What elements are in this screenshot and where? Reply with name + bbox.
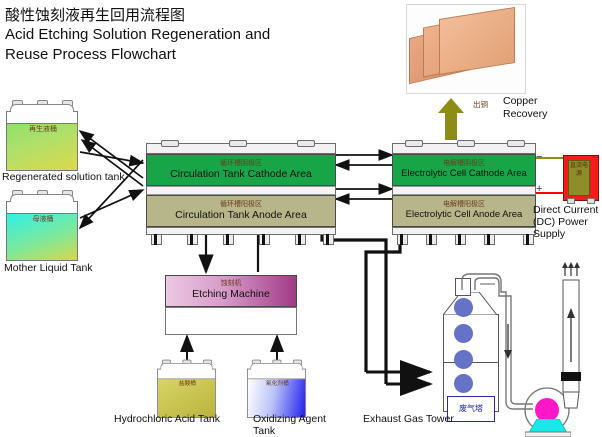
tower-duct (425, 262, 595, 427)
psu-label-cn: 直流电源 (569, 163, 589, 178)
copper-output-label-cn: 出铜 (473, 99, 488, 110)
hcl-tank-label-cn: 盐酸桶 (158, 379, 217, 387)
electrolytic-cell-cathode-area[interactable]: 电解槽阴极区 Electrolytic Cell Cathode Area (392, 154, 536, 186)
oxidizing-tank-label-cn: 氧化剂桶 (248, 379, 307, 387)
exhaust-inlet-arrows (366, 372, 430, 384)
psu-caption-line3: Supply (533, 229, 565, 241)
etching-machine-chamber (165, 307, 297, 335)
etching-machine-label-cn: 蚀刻机 (166, 278, 296, 288)
regenerated-tank-caption: Regenerated solution tank (2, 172, 125, 184)
electrolytic-cathode-label-cn: 电解槽阴极区 (393, 158, 535, 168)
electrolytic-anode-label-en: Electrolytic Cell Anode Area (393, 209, 535, 220)
copper-output-arrow (437, 98, 465, 140)
oxidizing-agent-tank-caption: Oxidizing Agent Tank (253, 414, 326, 437)
oxidizing-agent-tank[interactable]: 氧化剂桶 (247, 358, 306, 418)
exhaust-gas-tower[interactable]: 废气塔 (425, 262, 595, 427)
negative-terminal-sign: − (536, 151, 542, 163)
mother-liquid-tank-caption: Mother Liquid Tank (4, 263, 93, 275)
circulation-cathode-label-en: Circulation Tank Cathode Area (147, 168, 335, 180)
electrolytic-anode-label-cn: 电解槽阳极区 (393, 199, 535, 209)
psu-caption-line1: Direct Current (533, 205, 598, 217)
positive-terminal-sign: + (536, 183, 542, 195)
etching-machine[interactable]: 蚀刻机 Etching Machine (165, 275, 297, 307)
circulation-tank-anode-area[interactable]: 循环槽阳极区 Circulation Tank Anode Area (146, 195, 336, 227)
etching-machine-label-en: Etching Machine (166, 288, 296, 300)
hydrochloric-acid-tank[interactable]: 盐酸桶 (157, 358, 216, 418)
psu-caption-line2: (DC) Power (533, 217, 588, 229)
circulation-cathode-label-cn: 循环槽阴极区 (147, 158, 335, 168)
mother-tank-label-cn: 母液桶 (7, 214, 79, 224)
copper-recovery-caption-line2: Recovery (503, 109, 547, 121)
cell-exchange-arrows (336, 155, 392, 199)
copper-plates-photo (406, 4, 526, 94)
circulation-anode-label-cn: 循环槽阳极区 (147, 199, 335, 209)
hydrochloric-acid-tank-caption: Hydrochloric Acid Tank (114, 414, 220, 426)
dc-power-supply[interactable]: 直流电源 (563, 155, 599, 201)
electrolytic-cell[interactable]: 电解槽阴极区 Electrolytic Cell Cathode Area 电解… (392, 143, 536, 235)
flowchart-canvas: 酸性蚀刻液再生回用流程图 Acid Etching Solution Regen… (0, 0, 602, 432)
psu-panel: 直流电源 (568, 160, 590, 196)
exhaust-gas-tower-caption: Exhaust Gas Tower (363, 414, 454, 426)
electrolytic-cell-anode-area[interactable]: 电解槽阳极区 Electrolytic Cell Anode Area (392, 195, 536, 227)
circulation-tank[interactable]: 循环槽阴极区 Circulation Tank Cathode Area 循环槽… (146, 143, 336, 235)
fan-base (525, 419, 571, 437)
mother-liquid-tank[interactable]: 母液桶 (6, 188, 78, 261)
circulation-tank-cathode-area[interactable]: 循环槽阴极区 Circulation Tank Cathode Area (146, 154, 336, 186)
regenerated-tank-label-cn: 再生液桶 (7, 124, 79, 134)
electrolytic-cathode-label-en: Electrolytic Cell Cathode Area (393, 168, 535, 179)
regenerated-solution-tank[interactable]: 再生液桶 (6, 98, 78, 171)
circulation-anode-label-en: Circulation Tank Anode Area (147, 209, 335, 221)
chemical-feed-arrows (187, 336, 277, 360)
copper-recovery-caption-line1: Copper (503, 96, 537, 108)
